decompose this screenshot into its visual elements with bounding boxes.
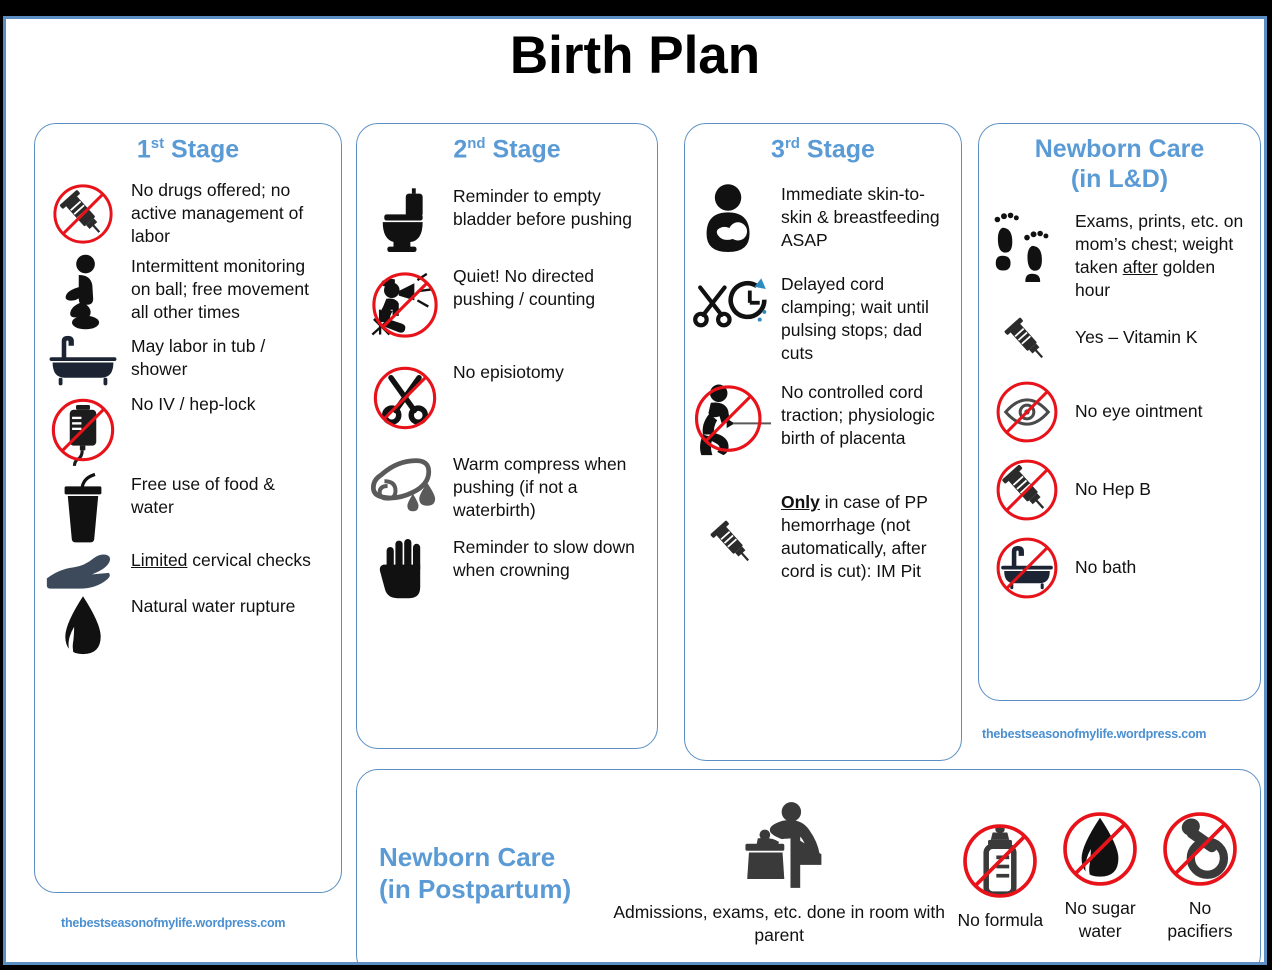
list-item-label: Only in case of PP hemorrhage (not autom… xyxy=(781,489,941,583)
list-item: Yes – Vitamin K xyxy=(979,310,1260,372)
breastfeeding-icon xyxy=(685,181,781,257)
list-item: No IV / hep-lock xyxy=(35,391,341,469)
list-item-label: Exams, prints, etc. on mom’s chest; weig… xyxy=(1075,208,1253,302)
stage-1-heading: 1st Stage xyxy=(35,135,341,165)
scissors-clock-icon xyxy=(685,271,781,333)
panel-newborn-care-ld: Newborn Care (in L&D) xyxy=(978,123,1261,701)
newborn-ld-heading: Newborn Care (in L&D) xyxy=(979,135,1260,194)
list-item-label: Limited cervical checks xyxy=(131,547,321,572)
stage-1-ordinal: 1 xyxy=(137,135,151,163)
list-item: Reminder to slow down when crowning xyxy=(357,534,657,600)
panel-stage-2: 2nd Stage Reminder to empty bladder befo… xyxy=(356,123,658,749)
list-item-label: Warm compress when pushing (if not a wat… xyxy=(453,451,635,522)
no-syringe-icon xyxy=(35,177,131,251)
newborn-ld-items: Exams, prints, etc. on mom’s chest; weig… xyxy=(979,194,1260,606)
stage-2-items: Reminder to empty bladder before pushing xyxy=(357,165,657,600)
syringe-icon xyxy=(685,489,781,575)
list-item-label: No episiotomy xyxy=(453,359,635,384)
list-item: Delayed cord clamping; wait until pulsin… xyxy=(685,271,961,365)
no-scissors-icon xyxy=(357,359,453,437)
list-item-label: Free use of food & water xyxy=(131,471,321,519)
list-item: Admissions, exams, etc. done in room wit… xyxy=(604,799,954,947)
list-item: Warm compress when pushing (if not a wat… xyxy=(357,451,657,522)
panel-stage-1: 1st Stage xyxy=(34,123,342,893)
water-drop-icon xyxy=(35,593,131,667)
list-item: No formula xyxy=(954,815,1046,932)
stage-1-ordinal-suffix: st xyxy=(151,135,164,152)
list-item: Immediate skin-to-skin & breastfeeding A… xyxy=(685,181,961,257)
list-item: No episiotomy xyxy=(357,359,657,437)
list-item-label: Yes – Vitamin K xyxy=(1075,310,1253,349)
no-pacifier-icon xyxy=(1154,803,1246,895)
list-item-label: No bath xyxy=(1075,530,1253,579)
list-item: No bath xyxy=(979,530,1260,606)
list-item: Limited cervical checks xyxy=(35,547,341,591)
list-item-label: No formula xyxy=(954,909,1046,932)
toilet-icon xyxy=(357,183,453,255)
no-iv-bag-icon xyxy=(35,391,131,469)
list-item: May labor in tub / shower xyxy=(35,333,341,389)
page-sheet: Birth Plan 1st Stage xyxy=(3,16,1267,965)
list-item: Exams, prints, etc. on mom’s chest; weig… xyxy=(979,208,1260,302)
credit-link-stage1[interactable]: thebestseasonofmylife.wordpress.com xyxy=(61,916,285,930)
panel-newborn-care-postpartum: Newborn Care (in Postpartum) xyxy=(356,769,1261,965)
newborn-ld-heading-line2: (in L&D) xyxy=(979,165,1260,195)
list-item-label: Quiet! No directed pushing / counting xyxy=(453,263,635,311)
no-cord-traction-icon xyxy=(685,379,781,463)
list-item: Natural water rupture xyxy=(35,593,341,667)
list-item-label: No pacifiers xyxy=(1154,897,1246,943)
stage-3-ordinal-suffix: rd xyxy=(785,135,800,152)
no-syringe-icon xyxy=(979,452,1075,528)
warm-compress-towel-icon xyxy=(357,451,453,513)
syringe-icon xyxy=(979,310,1075,372)
stage-2-ordinal: 2 xyxy=(453,135,467,163)
list-item-label: No IV / hep-lock xyxy=(131,391,321,416)
list-item: Quiet! No directed pushing / counting xyxy=(357,263,657,347)
stage-2-heading: 2nd Stage xyxy=(357,135,657,165)
list-item-label: Reminder to slow down when crowning xyxy=(453,534,635,582)
list-item: No Hep B xyxy=(979,452,1260,528)
stage-1-items: No drugs offered; no active management o… xyxy=(35,165,341,667)
stage-3-heading-rest: Stage xyxy=(800,135,875,163)
list-item: Only in case of PP hemorrhage (not autom… xyxy=(685,489,961,583)
list-item: Intermittent monitoring on ball; free mo… xyxy=(35,253,341,331)
newborn-pp-heading-line1: Newborn Care xyxy=(379,841,604,874)
stage-2-ordinal-suffix: nd xyxy=(467,135,485,152)
list-item: No controlled cord traction; physiologic… xyxy=(685,379,961,463)
stage-1-heading-rest: Stage xyxy=(164,135,239,163)
newborn-postpartum-heading: Newborn Care (in Postpartum) xyxy=(379,841,604,906)
stage-3-items: Immediate skin-to-skin & breastfeeding A… xyxy=(685,165,961,584)
no-bathtub-icon xyxy=(979,530,1075,606)
credit-link-newborn-ld[interactable]: thebestseasonofmylife.wordpress.com xyxy=(982,727,1206,741)
list-item-label: No controlled cord traction; physiologic… xyxy=(781,379,941,450)
panel-stage-3: 3rd Stage Immediate skin-to-skin & breas… xyxy=(684,123,962,761)
no-eye-icon xyxy=(979,374,1075,450)
stage-3-ordinal: 3 xyxy=(771,135,785,163)
underline-emphasis: after xyxy=(1123,257,1158,277)
open-hand-icon xyxy=(35,547,131,591)
list-item-label: No drugs offered; no active management o… xyxy=(131,177,321,248)
stop-hand-icon xyxy=(357,534,453,600)
drink-cup-icon xyxy=(35,471,131,545)
no-water-drop-icon xyxy=(1046,803,1154,895)
newborn-pp-heading-line2: (in Postpartum) xyxy=(379,873,604,906)
list-item-label: No Hep B xyxy=(1075,452,1253,501)
list-item: Reminder to empty bladder before pushing xyxy=(357,183,657,255)
newborn-ld-heading-line1: Newborn Care xyxy=(979,135,1260,165)
list-item-label: Delayed cord clamping; wait until pulsin… xyxy=(781,271,941,365)
list-item: No pacifiers xyxy=(1154,803,1246,943)
list-item-label: Reminder to empty bladder before pushing xyxy=(453,183,635,231)
list-item-label: No eye ointment xyxy=(1075,374,1253,423)
underline-emphasis: Limited xyxy=(131,550,187,570)
birth-plan-infographic: Birth Plan 1st Stage xyxy=(0,0,1272,970)
list-item-label: No sugar water xyxy=(1046,897,1154,943)
stage-3-heading: 3rd Stage xyxy=(685,135,961,165)
list-item-label: May labor in tub / shower xyxy=(131,333,321,381)
list-item: No sugar water xyxy=(1046,803,1154,943)
list-item-label-rest: cervical checks xyxy=(187,550,311,570)
list-item: No drugs offered; no active management o… xyxy=(35,177,341,251)
page-title: Birth Plan xyxy=(6,25,1264,86)
bathtub-icon xyxy=(35,333,131,389)
no-baby-bottle-icon xyxy=(954,815,1046,907)
underline-emphasis: Only xyxy=(781,492,820,512)
baby-footprints-icon xyxy=(979,208,1075,282)
list-item-label: Natural water rupture xyxy=(131,593,321,618)
list-item: No eye ointment xyxy=(979,374,1260,450)
list-item: Free use of food & water xyxy=(35,471,341,545)
changing-table-icon xyxy=(604,799,954,899)
stage-2-heading-rest: Stage xyxy=(486,135,561,163)
list-item-label: Immediate skin-to-skin & breastfeeding A… xyxy=(781,181,941,252)
no-megaphone-coach-icon xyxy=(357,263,453,347)
list-item-label: Admissions, exams, etc. done in room wit… xyxy=(604,901,954,947)
person-on-birth-ball-icon xyxy=(35,253,131,331)
list-item-label: Intermittent monitoring on ball; free mo… xyxy=(131,253,321,324)
